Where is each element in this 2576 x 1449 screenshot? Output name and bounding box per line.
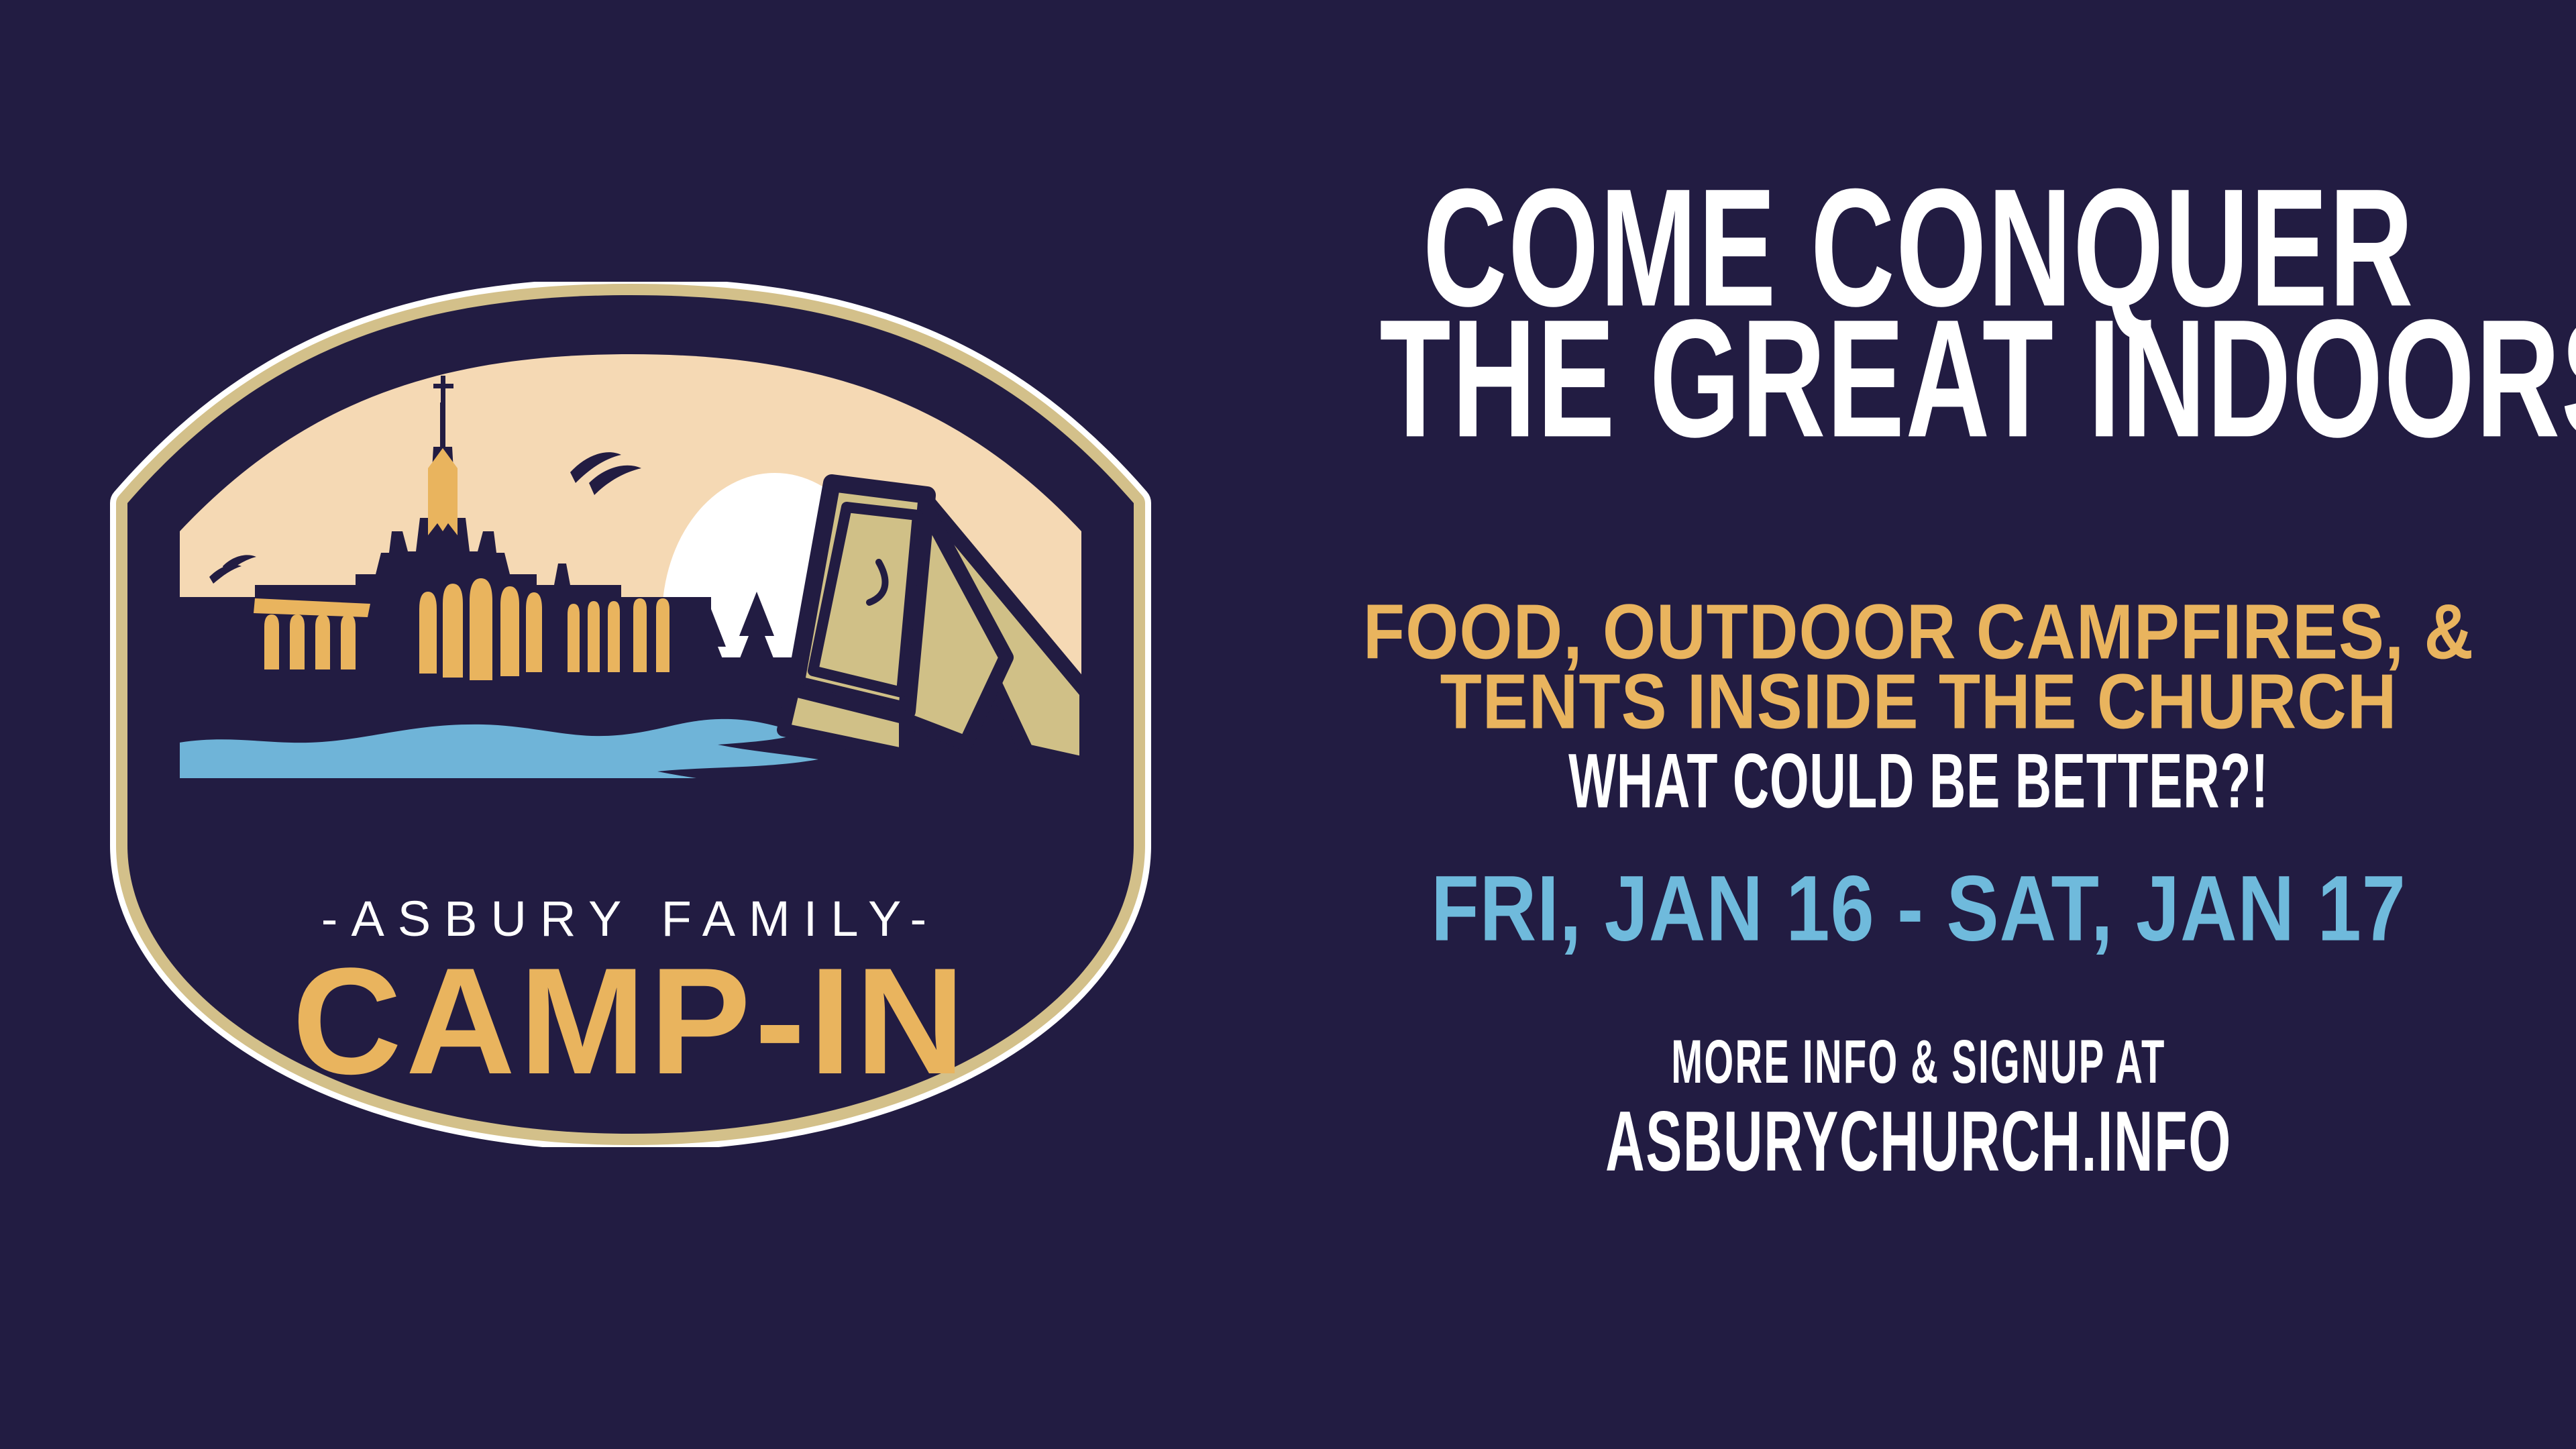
- headline-line-2: THE GREAT INDOORS.: [1379, 299, 2457, 458]
- badge-title: CAMP-IN: [292, 936, 969, 1106]
- more-info-label: MORE INFO & SIGNUP AT: [1419, 1031, 2418, 1093]
- gold-detail-line-2: TENTS INSIDE THE CHURCH: [1275, 662, 2563, 742]
- poster-copy: COME CONQUER THE GREAT INDOORS. FOOD, OU…: [1261, 168, 2576, 1308]
- badge-logo: -ASBURY FAMILY- CAMP-IN: [40, 282, 1221, 1147]
- badge-title-text: CAMP-IN: [292, 936, 969, 1106]
- signup-url[interactable]: ASBURYCHURCH.INFO: [1406, 1099, 2432, 1185]
- poster-canvas: -ASBURY FAMILY- CAMP-IN COME CONQUER THE…: [0, 0, 2576, 1449]
- event-dates: FRI, JAN 16 - SAT, JAN 17: [1307, 862, 2530, 955]
- sub-question-line: WHAT COULD BE BETTER?!: [1393, 743, 2445, 820]
